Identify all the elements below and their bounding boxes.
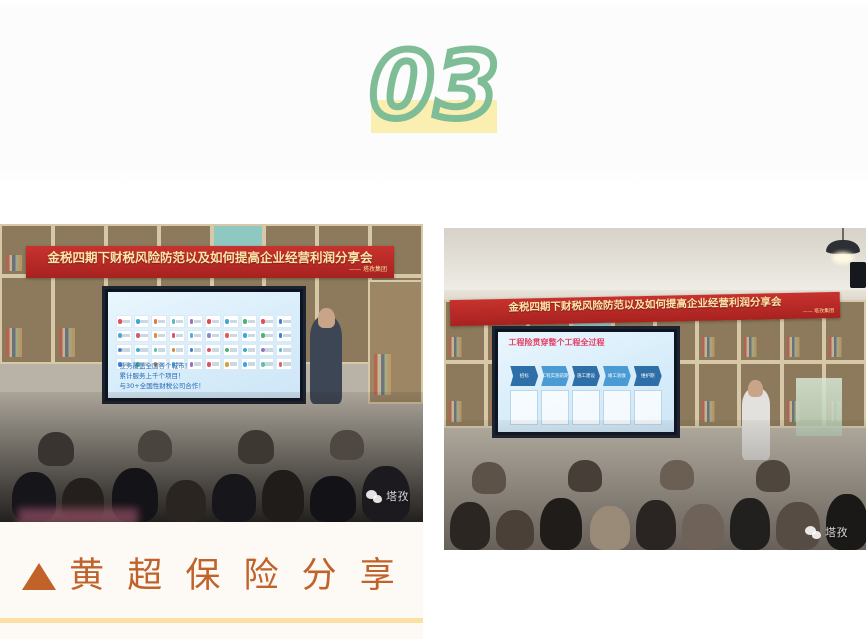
slide-bullet: 与30+全国性财税公司合作！ — [120, 382, 205, 392]
watermark-label: 塔孜 — [386, 488, 409, 504]
shelf-cell — [697, 362, 739, 428]
logo-cell — [241, 315, 257, 327]
presenter-head — [318, 308, 335, 328]
caption-text: 黄 超 保 险 分 享 — [69, 557, 401, 596]
caption-block: 黄 超 保 险 分 享 — [0, 522, 423, 639]
logo-cell — [134, 330, 150, 342]
presenter-head — [748, 380, 763, 397]
logo-cell — [169, 344, 185, 356]
logo-cell — [223, 315, 239, 327]
logo-cell — [205, 358, 221, 370]
logo-cell — [259, 315, 275, 327]
logo-cell — [223, 330, 239, 342]
logo-cell — [241, 358, 257, 370]
logo-cell — [134, 344, 150, 356]
logo-cell — [169, 330, 185, 342]
logo-cell — [259, 330, 275, 342]
logo-cell — [276, 330, 292, 342]
event-banner-title: 金税四期下财税风险防范以及如何提高企业经营利润分享会 — [508, 297, 781, 314]
logo-cell — [205, 344, 221, 356]
audience-head — [238, 430, 274, 464]
audience-head — [496, 510, 534, 550]
slide-bullet: 业务覆盖全国各个城市！ — [120, 362, 205, 372]
photo-left[interactable]: 金税四期下财税风险防范以及如何提高企业经营利润分享会 —— 塔孜集团 企业服务资… — [0, 224, 423, 522]
logo-cell — [241, 344, 257, 356]
slide-bullet: 累计服务上千个项目！ — [120, 372, 205, 382]
caption-underline-rule — [0, 618, 423, 623]
watermark-right: 塔孜 — [805, 524, 848, 540]
audience-head — [756, 460, 790, 492]
logo-cell — [223, 358, 239, 370]
audience-head — [826, 494, 866, 550]
audience-area — [444, 420, 866, 550]
wall-speaker — [850, 262, 866, 288]
audience-head — [540, 498, 582, 550]
logo-cell — [223, 344, 239, 356]
logo-cell — [169, 315, 185, 327]
lecture-room-scene-left: 金税四期下财税风险防范以及如何提高企业经营利润分享会 —— 塔孜集团 企业服务资… — [0, 224, 423, 522]
watermark-label: 塔孜 — [825, 524, 848, 540]
flow-step: 竣工验收 — [603, 366, 631, 386]
shelf-cell — [0, 276, 53, 364]
event-banner-title: 金税四期下财税风险防范以及如何提高企业经营利润分享会 — [47, 251, 372, 264]
audience-head — [138, 430, 172, 462]
audience-head — [310, 476, 356, 522]
side-shelf — [368, 280, 423, 404]
event-banner-subtitle: —— 塔孜集团 — [802, 309, 834, 315]
flow-step: 工程实施前期 — [541, 366, 569, 386]
logo-cell — [241, 330, 257, 342]
wechat-icon — [366, 490, 382, 503]
logo-cell — [151, 315, 167, 327]
audience-head — [636, 500, 676, 550]
wechat-icon — [805, 526, 821, 539]
event-banner: 金税四期下财税风险防范以及如何提高企业经营利润分享会 —— 塔孜集团 — [26, 246, 394, 278]
audience-head — [660, 460, 694, 490]
audience-head — [450, 502, 490, 550]
slide-content: 企业服务资源平台 — [108, 292, 300, 398]
logo-cell — [205, 330, 221, 342]
flow-step: 招标 — [510, 366, 538, 386]
logo-cell — [187, 315, 203, 327]
event-banner-subtitle: —— 塔孜集团 — [349, 267, 387, 273]
logo-cell — [116, 344, 132, 356]
audience-head — [682, 504, 724, 550]
audience-area — [0, 392, 423, 522]
audience-head — [166, 480, 206, 522]
presenter-figure — [310, 316, 342, 404]
photo-right[interactable]: 金税四期下财税风险防范以及如何提高企业经营利润分享会 —— 塔孜集团 工程险贯穿… — [444, 228, 866, 550]
logo-cell — [151, 330, 167, 342]
audience-head — [38, 432, 74, 466]
logo-cell — [205, 315, 221, 327]
logo-cell — [187, 330, 203, 342]
logo-cell — [259, 358, 275, 370]
audience-head — [590, 506, 630, 550]
logo-cell — [276, 344, 292, 356]
watermark-left: 塔孜 — [366, 488, 409, 504]
logo-cell — [276, 358, 292, 370]
triangle-marker-icon — [22, 563, 56, 590]
slide-bullets: 业务覆盖全国各个城市！ 累计服务上千个项目！ 与30+全国性财税公司合作！ — [120, 362, 205, 391]
logo-cell — [187, 344, 203, 356]
foreground-blur — [18, 508, 138, 522]
logo-cell — [116, 330, 132, 342]
presentation-screen: 企业服务资源平台 — [102, 286, 306, 404]
audience-head — [212, 474, 256, 522]
ceiling — [444, 228, 866, 290]
audience-head — [262, 470, 304, 522]
slide-content: 工程险贯穿整个工程全过程 招标 工程实施前期 施工建设 竣工验收 维护期 — [498, 332, 674, 432]
flow-step: 维护期 — [634, 366, 662, 386]
logo-cell — [276, 315, 292, 327]
logo-cell — [134, 315, 150, 327]
lecture-room-scene-right: 金税四期下财税风险防范以及如何提高企业经营利润分享会 —— 塔孜集团 工程险贯穿… — [444, 228, 866, 550]
audience-head — [730, 498, 770, 550]
audience-head — [568, 460, 602, 492]
flow-step: 施工建设 — [572, 366, 600, 386]
audience-head — [472, 462, 506, 494]
logo-cell — [116, 315, 132, 327]
shelf-cell — [53, 276, 106, 364]
slide-title: 工程险贯穿整个工程全过程 — [509, 337, 605, 348]
audience-head — [330, 430, 364, 460]
logo-cell — [259, 344, 275, 356]
logo-cell — [151, 344, 167, 356]
shelf-cell — [444, 362, 486, 428]
process-flow: 招标 工程实施前期 施工建设 竣工验收 维护期 — [510, 366, 661, 386]
caption-row: 黄 超 保 险 分 享 — [0, 548, 423, 604]
